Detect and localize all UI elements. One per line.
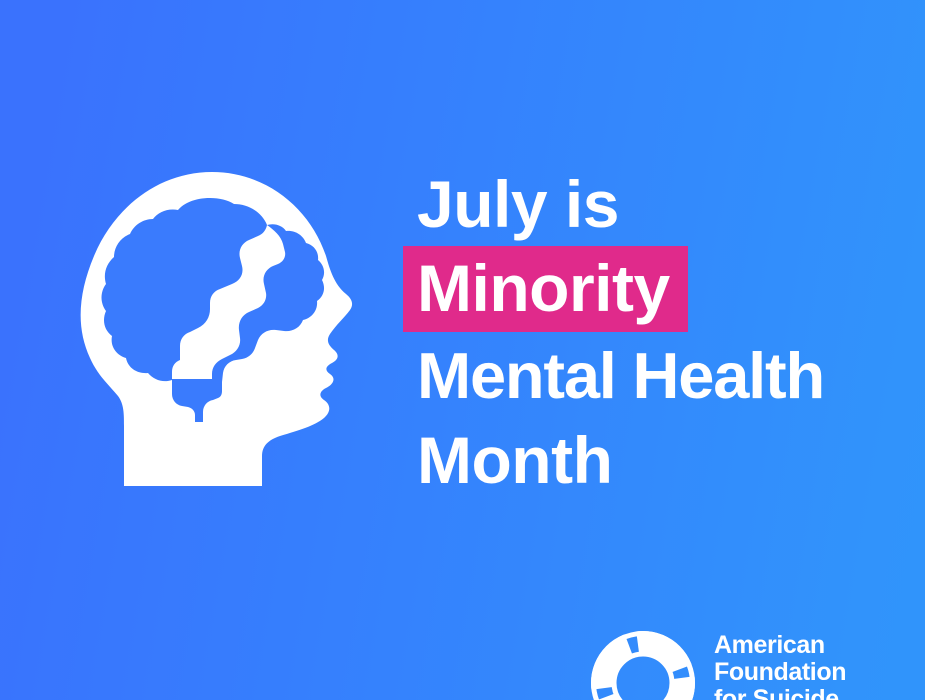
logo-line-american: American — [714, 632, 846, 659]
headline-line-month: Month — [403, 418, 903, 503]
life-preserver-ring-icon — [588, 628, 698, 700]
logo-line-for-suicide: for Suicide — [714, 686, 846, 700]
headline-highlight-wrapper: Minority — [403, 246, 903, 332]
afsp-wordmark: American Foundation for Suicide — [714, 632, 846, 700]
headline-block: July is Minority Mental Health Month — [403, 162, 903, 503]
afsp-logo-lockup: American Foundation for Suicide — [588, 628, 846, 700]
headline-line-mental-health: Mental Health — [403, 333, 903, 418]
head-brain-silhouette-icon — [62, 160, 382, 500]
logo-line-foundation: Foundation — [714, 659, 846, 686]
headline-line-july-is: July is — [403, 162, 903, 247]
headline-line-minority: Minority — [403, 246, 688, 332]
poster-canvas: July is Minority Mental Health Month — [0, 0, 925, 700]
